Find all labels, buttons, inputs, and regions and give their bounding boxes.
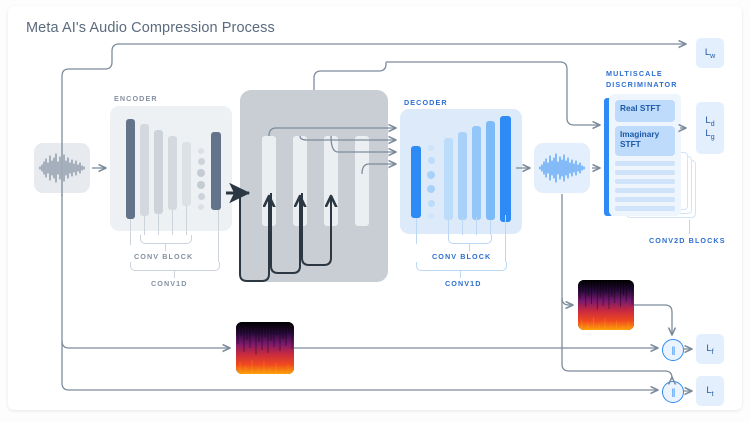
decoder-bar (458, 132, 467, 220)
diagram-page: Meta AI's Audio Compression Process ENCO… (0, 0, 750, 422)
vq-codebook-bar (262, 136, 276, 226)
encoder-conv-block-label: CONV BLOCK (134, 252, 193, 261)
conv2d-line (615, 161, 675, 166)
bracket-tick (172, 210, 173, 235)
loss-lt-text: Lt (706, 385, 713, 398)
spectrogram-image (578, 280, 634, 330)
input-spectrogram (236, 322, 294, 374)
loss-ld-lg: Ld Lg (696, 102, 724, 154)
conv2d-line (615, 170, 675, 175)
encoder-bar (126, 119, 135, 219)
loss-lg-text: Lg (705, 128, 714, 141)
output-spectrogram (578, 280, 634, 330)
bracket-tick (462, 217, 463, 235)
discriminator-stack: Real STFT Imaginary STFT (604, 94, 708, 220)
diagram-canvas: Meta AI's Audio Compression Process ENCO… (8, 6, 742, 410)
vq-codebook-bar (355, 136, 369, 226)
imaginary-stft-box: Imaginary STFT (615, 126, 675, 156)
bracket-tick (490, 220, 491, 235)
conv2d-line (615, 206, 675, 211)
loss-lt: Lt (696, 376, 724, 406)
norm-node-t: || (662, 381, 684, 403)
discriminator-label-line2: DISCRIMINATOR (606, 80, 678, 89)
encoder-dots (197, 148, 205, 210)
decoder-bar (411, 146, 421, 218)
decoder-conv-block-label: CONV BLOCK (432, 252, 491, 261)
decoder-label: DECODER (404, 98, 448, 107)
wire-spectrogram-to-lf-node (634, 305, 672, 335)
bracket-tick (130, 219, 131, 245)
encoder-conv1d-label: CONV1D (151, 279, 188, 288)
output-waveform-box (534, 143, 590, 193)
waveform-icon (39, 152, 85, 184)
encoder-label: ENCODER (114, 94, 158, 103)
wire-vq-top-skip (314, 62, 386, 90)
loss-ld-sub: d (711, 121, 715, 128)
wire-input-to-lt (62, 341, 658, 390)
loss-lf-sub: f (712, 348, 714, 355)
bracket-tick (158, 214, 159, 235)
bracket-tick (448, 220, 449, 235)
decoder-dots (427, 145, 435, 219)
loss-lw: Lw (696, 38, 724, 68)
conv2d-blocks-label: CONV2D BLOCKS (649, 236, 726, 245)
decoder-bar (486, 121, 495, 220)
bracket-tick (186, 206, 187, 235)
real-stft-box: Real STFT (615, 100, 675, 122)
vq-bars-group (240, 90, 388, 282)
vq-codebook-bar (293, 136, 307, 226)
bracket-tick (144, 216, 145, 235)
bracket-tick (469, 243, 470, 251)
waveform-icon (539, 152, 585, 184)
encoder-panel (110, 106, 232, 231)
bracket-tick (505, 215, 506, 262)
conv2d-line (615, 197, 675, 202)
decoder-conv1d-label: CONV1D (445, 279, 482, 288)
spectrogram-image (236, 322, 294, 374)
loss-lg-sub: g (711, 134, 715, 141)
norm-node-f: || (662, 339, 684, 361)
loss-lt-sub: t (712, 390, 714, 397)
decoder-panel (400, 109, 522, 234)
bracket-tick (460, 270, 461, 278)
bracket-tick (165, 243, 166, 251)
loss-lf: Lf (696, 334, 724, 364)
encoder-bar (154, 130, 163, 214)
conv1d-bracket (416, 262, 507, 271)
decoder-bar (500, 116, 511, 222)
conv2d-line (615, 179, 675, 184)
loss-ld-text: Ld (705, 115, 714, 128)
loss-lw-text: Lw (705, 47, 715, 60)
wire-output-to-spectrogram (562, 198, 573, 305)
vq-codebook-bar (324, 136, 338, 226)
encoder-bar (211, 132, 221, 210)
discriminator-label-line1: MULTISCALE (606, 69, 663, 78)
page-title: Meta AI's Audio Compression Process (26, 20, 275, 36)
decoder-bar (472, 126, 481, 220)
bracket-tick (174, 270, 175, 278)
encoder-bar (168, 136, 177, 210)
bracket-tick (689, 220, 690, 234)
loss-lf-text: Lf (706, 343, 713, 356)
bracket-tick (476, 217, 477, 235)
bracket-tick (218, 210, 219, 262)
encoder-bar (182, 142, 191, 206)
norm-glyph: || (672, 345, 675, 355)
loss-lw-sub: w (710, 52, 715, 59)
bracket-tick (416, 218, 417, 244)
input-waveform-box (34, 143, 90, 193)
encoder-bar (140, 124, 149, 216)
norm-glyph: || (672, 387, 675, 397)
decoder-bar (444, 138, 453, 220)
conv2d-line (615, 188, 675, 193)
